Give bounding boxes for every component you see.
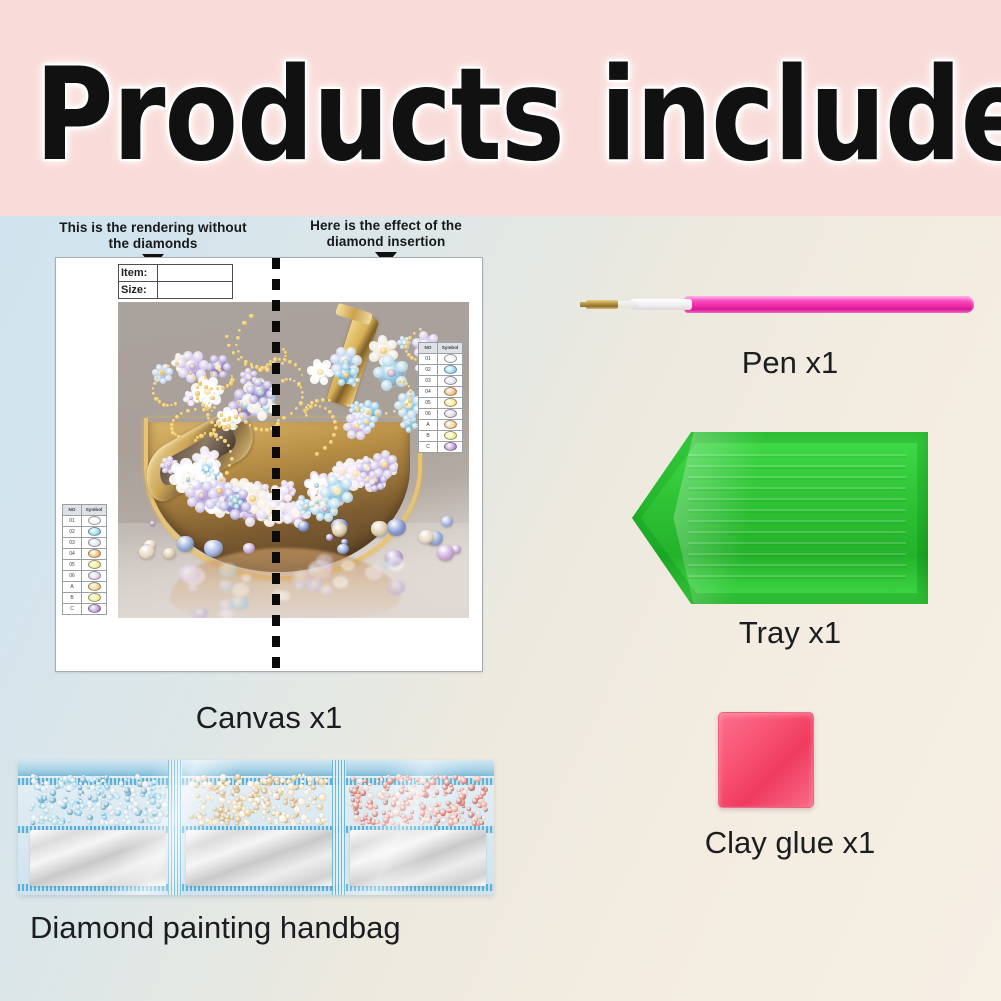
jewel-petal [342, 492, 353, 503]
gold-bead [303, 409, 306, 412]
legend-row-number: 02 [419, 365, 438, 376]
jewel-petal [342, 363, 349, 370]
clay-glue-image [718, 712, 814, 808]
gold-bead [211, 396, 214, 399]
gold-bead [260, 428, 263, 431]
size-label: Size: [119, 282, 158, 299]
legend-row-number: 04 [63, 549, 82, 560]
jewel-petal [234, 504, 239, 509]
jewel-petal [180, 458, 191, 469]
gold-bead [172, 419, 175, 422]
legend-color-dot [88, 604, 101, 613]
gold-bead [300, 386, 303, 389]
legend-row: 05 [63, 560, 107, 571]
jewel-petal [350, 368, 357, 375]
gold-bead [404, 345, 407, 348]
gold-bead [204, 385, 208, 389]
jewel-petal [363, 457, 370, 464]
legend-color-dot [444, 376, 457, 385]
jewel-petal [369, 352, 379, 362]
legend-row-symbol [82, 549, 107, 560]
jewel-petal [406, 427, 412, 433]
gold-bead [240, 356, 243, 359]
gold-bead [265, 368, 269, 372]
gold-bead [410, 356, 414, 360]
gold-bead [398, 380, 401, 383]
gold-bead [301, 374, 304, 377]
jewel-petal [249, 395, 258, 404]
gold-bead [162, 403, 166, 407]
pen-grip [630, 299, 692, 310]
legend-color-dot [88, 582, 101, 591]
gold-bead [223, 439, 226, 442]
gold-bead [234, 415, 238, 419]
jewel-petal [347, 430, 356, 439]
legend-color-dot [444, 442, 457, 451]
gold-bead [237, 350, 240, 353]
gold-bead [281, 379, 285, 383]
gold-bead [324, 407, 327, 410]
gold-bead [323, 446, 327, 450]
jewel-petal [251, 371, 257, 377]
jewel-petal [160, 378, 166, 384]
gold-bead [152, 392, 155, 395]
gold-bead [319, 405, 322, 408]
legend-row: 02 [63, 527, 107, 538]
flower-center [364, 420, 368, 424]
jewel-petal [223, 363, 231, 371]
gold-bead [321, 398, 325, 402]
gold-bead [230, 457, 234, 461]
gold-bead [175, 415, 179, 419]
canvas-sheet: Item: Size: /* decorative jewels/flowers… [55, 257, 483, 672]
legend-row-number: C [63, 604, 82, 615]
gold-bead [290, 412, 293, 415]
reflected-flower [193, 607, 208, 618]
gold-bead [281, 362, 284, 365]
gold-bead [174, 402, 177, 405]
legend-row-number: 01 [419, 354, 438, 365]
jewel-petal [357, 419, 363, 425]
jewel-petal [352, 355, 362, 365]
gold-bead [399, 407, 402, 410]
reflected-flower [219, 563, 237, 577]
jewel-petal [370, 416, 376, 422]
gold-bead [209, 432, 213, 436]
legend-row-symbol [438, 409, 463, 420]
jewel-petal [257, 499, 266, 508]
gold-bead [242, 321, 246, 325]
legend-row-number: A [63, 582, 82, 593]
gold-bead [376, 412, 379, 415]
jewel-petal [258, 490, 267, 499]
jewel-petal [320, 501, 325, 506]
legend-row-number: 04 [419, 387, 438, 398]
loose-gem [387, 519, 405, 536]
flower-center [387, 369, 395, 377]
gold-bead [193, 377, 196, 380]
gold-bead [154, 397, 158, 401]
gold-bead [254, 427, 258, 431]
loose-gem [204, 540, 223, 557]
tray-image [632, 432, 928, 604]
gold-bead [152, 387, 155, 390]
legend-row: 04 [419, 387, 463, 398]
reflected-flower [387, 580, 406, 595]
jewel-petal [320, 478, 327, 485]
gold-bead [170, 404, 173, 407]
legend-color-dot [88, 538, 101, 547]
legend-row-number: A [419, 420, 438, 431]
gold-bead [189, 371, 193, 375]
gold-bead [284, 351, 287, 354]
reflected-flower [178, 565, 199, 582]
color-legend-bottom-left: NOSymbol010203040506ABC [62, 504, 107, 615]
jewel-petal [289, 486, 294, 491]
legend-color-dot [444, 409, 457, 418]
gold-bead [238, 329, 241, 332]
jewel-petal [307, 366, 316, 375]
jewel-petal [397, 340, 401, 344]
jewel-petal [322, 360, 331, 369]
legend-row-number: 06 [419, 409, 438, 420]
jewel-petal [188, 401, 193, 406]
jewel-petal [245, 368, 251, 374]
legend-row: C [419, 442, 463, 453]
jewel-petal [219, 355, 227, 363]
legend-row-symbol [438, 420, 463, 431]
gold-bead [258, 368, 262, 372]
legend-row-number: 05 [63, 560, 82, 571]
jewel-petal [327, 475, 338, 486]
legend-row-symbol [82, 516, 107, 527]
gold-bead [244, 363, 247, 366]
legend-row: 03 [419, 376, 463, 387]
legend-row: 05 [419, 398, 463, 409]
jewel-petal [264, 520, 269, 525]
gold-bead [284, 355, 287, 358]
tray-label: Tray x1 [610, 615, 970, 651]
legend-color-dot [444, 354, 457, 363]
gold-bead [235, 344, 238, 347]
gold-bead [206, 413, 210, 417]
flower-center [315, 500, 319, 504]
flower-center [186, 477, 191, 482]
gold-bead [196, 386, 199, 389]
jewel-petal [238, 500, 243, 505]
reflected-flower [333, 576, 348, 588]
legend-row-symbol [438, 365, 463, 376]
jewel-petal [334, 370, 341, 377]
legend-row-number: 06 [63, 571, 82, 582]
pen-label: Pen x1 [610, 345, 970, 381]
color-legend-top-right: NOSymbol010203040506ABC [418, 342, 463, 453]
legend-row: 04 [63, 549, 107, 560]
table-row: Size: [119, 282, 233, 299]
gold-bead [294, 363, 297, 366]
gold-bead [225, 335, 228, 338]
handbag-image [18, 760, 494, 895]
gold-bead [170, 427, 174, 431]
jewel-petal [283, 514, 292, 523]
jewel-petal [355, 378, 359, 382]
legend-color-dot [88, 516, 101, 525]
legend-row: 01 [63, 516, 107, 527]
pen-barrel [684, 296, 974, 313]
jewel-petal [162, 468, 168, 474]
jewel-petal [365, 483, 371, 489]
legend-row-symbol [82, 604, 107, 615]
jewel-petal [343, 423, 352, 432]
flower-center [198, 492, 206, 500]
legend-row-symbol [438, 354, 463, 365]
flower-center [343, 372, 348, 377]
legend-row-symbol [82, 560, 107, 571]
gold-bead [194, 408, 197, 411]
gold-bead [195, 391, 199, 395]
gold-bead [232, 351, 236, 355]
jewel-petal [320, 487, 331, 498]
legend-row: 01 [419, 354, 463, 365]
gold-bead [413, 332, 416, 335]
legend-color-dot [444, 398, 457, 407]
gold-bead [235, 425, 238, 428]
gold-bead [207, 417, 210, 420]
gold-bead [240, 415, 244, 419]
gold-bead [180, 412, 183, 415]
gold-bead [219, 436, 223, 440]
gold-bead [228, 416, 231, 419]
reflected-flower [388, 557, 405, 570]
jewel-petal [359, 403, 364, 408]
gold-bead [209, 406, 212, 409]
gold-bead [186, 409, 190, 413]
legend-row-symbol [82, 593, 107, 604]
legend-row: B [63, 593, 107, 604]
gold-bead [314, 404, 317, 407]
jewel-petal [230, 509, 240, 519]
jewel-petal [356, 463, 363, 470]
gold-bead [226, 384, 229, 387]
flower-center [322, 506, 328, 512]
jewel-petal [382, 355, 393, 366]
legend-color-dot [88, 549, 101, 558]
legend-color-dot [444, 365, 457, 374]
gold-bead [356, 409, 359, 412]
legend-row-symbol [438, 431, 463, 442]
jewel-petal [320, 377, 329, 386]
gold-bead [332, 433, 336, 437]
size-value [157, 282, 232, 299]
jewel-petal [245, 517, 255, 527]
legend-body: NOSymbol010203040506ABC [63, 505, 107, 615]
comparison-divider [272, 258, 280, 673]
canvas-label: Canvas x1 [55, 700, 483, 736]
infographic-root: Products include This is the rendering w… [0, 0, 1001, 1001]
jewel-petal [206, 472, 211, 477]
tray-body [632, 432, 928, 604]
loose-gem [243, 543, 255, 554]
legend-color-dot [88, 593, 101, 602]
jewel-petal [400, 422, 406, 428]
gold-bead [295, 407, 298, 410]
item-label: Item: [119, 265, 158, 282]
legend-header-symbol: Symbol [438, 343, 463, 354]
canvas-info-table: Item: Size: [118, 264, 233, 299]
gold-bead [196, 396, 199, 399]
legend-row: A [419, 420, 463, 431]
gold-bead [222, 425, 226, 429]
loose-gem [419, 530, 434, 544]
legend-header-row: NOSymbol [419, 343, 463, 354]
legend-header-no: NO [63, 505, 82, 516]
gold-bead [265, 428, 268, 431]
reflected-flower [220, 609, 234, 618]
flower-center [381, 461, 387, 467]
item-value [157, 265, 232, 282]
gold-bead [214, 424, 217, 427]
gold-bead [407, 353, 411, 357]
gold-bead [405, 341, 409, 345]
gold-bead [301, 396, 304, 399]
gold-bead [236, 336, 240, 340]
loose-gem [337, 544, 348, 554]
jewel-petal [280, 486, 288, 494]
legend-row-symbol [82, 538, 107, 549]
legend-row-symbol [82, 571, 107, 582]
loose-gem [332, 523, 348, 537]
page-title: Products include [35, 52, 966, 180]
legend-header-row: NOSymbol [63, 505, 107, 516]
gold-bead [414, 358, 417, 361]
gold-bead [213, 406, 216, 409]
legend-row-symbol [438, 387, 463, 398]
legend-row: C [63, 604, 107, 615]
gold-bead [408, 398, 412, 402]
clay-glue-label: Clay glue x1 [610, 825, 970, 861]
jewel-petal [310, 375, 319, 384]
gold-bead [331, 415, 335, 419]
jewel-petal [400, 345, 404, 349]
reflected-flower [219, 580, 232, 591]
jewel-petal [210, 355, 218, 363]
gold-bead [166, 404, 169, 407]
gold-bead [408, 385, 411, 388]
gold-bead [249, 314, 253, 318]
gold-bead [328, 410, 332, 414]
annotation-left-text: This is the rendering without the diamon… [59, 220, 246, 251]
gold-bead [251, 366, 254, 369]
legend-row-number: 03 [63, 538, 82, 549]
gold-bead [210, 372, 213, 375]
table-row: Item: [119, 265, 233, 282]
legend-row-number: B [419, 431, 438, 442]
jewel-petal [165, 375, 171, 381]
gold-bead [214, 433, 218, 437]
gold-bead [333, 420, 337, 424]
jewel-petal [329, 498, 340, 509]
jewel-petal [347, 467, 354, 474]
gold-bead [222, 418, 226, 422]
gold-bead [408, 336, 412, 340]
gold-bead [221, 386, 225, 390]
gold-bead [285, 378, 288, 381]
flower-center [257, 389, 264, 396]
legend-color-dot [444, 431, 457, 440]
title-banner: Products include [0, 0, 1001, 216]
handbag-label: Diamond painting handbag [30, 910, 401, 946]
pen-image [578, 292, 974, 318]
jewel-petal [310, 489, 317, 496]
reflected-flower [232, 583, 249, 597]
gold-bead [328, 399, 331, 402]
legend-row-number: B [63, 593, 82, 604]
jewel-petal [387, 340, 397, 350]
gold-bead [211, 410, 214, 413]
jewel-petal [208, 462, 213, 467]
gold-bead [229, 381, 233, 385]
gold-bead [226, 424, 230, 428]
legend-row-symbol [438, 442, 463, 453]
reflected-flower [308, 560, 332, 579]
canvas-artwork: /* decorative jewels/flowers drawn proce… [118, 302, 469, 618]
legend-row-number: 03 [419, 376, 438, 387]
gold-bead [301, 391, 304, 394]
gold-bead [393, 410, 396, 413]
legend-row-number: 02 [63, 527, 82, 538]
pen-metal-tip [586, 300, 618, 309]
jewel-petal [365, 426, 371, 432]
legend-color-dot [444, 387, 457, 396]
legend-row: 03 [63, 538, 107, 549]
loose-gem [371, 521, 388, 536]
gold-bead [405, 350, 408, 353]
legend-row-symbol [82, 582, 107, 593]
gold-bead [153, 382, 157, 386]
jewel-petal [279, 502, 287, 510]
gold-bead [299, 401, 303, 405]
gold-bead [158, 400, 162, 404]
gold-bead [156, 376, 159, 379]
flower-center [317, 369, 323, 375]
tray-highlight [673, 432, 774, 604]
gold-bead [199, 434, 203, 438]
legend-row: 06 [63, 571, 107, 582]
legend-row-symbol [438, 376, 463, 387]
legend-row-number: 01 [63, 516, 82, 527]
legend-row: B [419, 431, 463, 442]
gold-bead [289, 378, 292, 381]
jewel-petal [359, 481, 365, 487]
jewel-petal [381, 380, 392, 391]
legend-row: 06 [419, 409, 463, 420]
jewel-petal [400, 336, 404, 340]
legend-color-dot [88, 571, 101, 580]
legend-header-symbol: Symbol [82, 505, 107, 516]
gold-bead [227, 344, 231, 348]
gold-bead [305, 414, 308, 417]
gold-bead [315, 399, 319, 403]
jewel-petal [185, 391, 190, 396]
legend-color-dot [88, 527, 101, 536]
reflected-flower [188, 584, 197, 592]
legend-row-number: C [419, 442, 438, 453]
flower-center [380, 347, 387, 354]
legend-color-dot [88, 560, 101, 569]
gold-bead [293, 380, 296, 383]
bag-plastic-sheen [18, 760, 494, 895]
legend-color-dot [444, 420, 457, 429]
